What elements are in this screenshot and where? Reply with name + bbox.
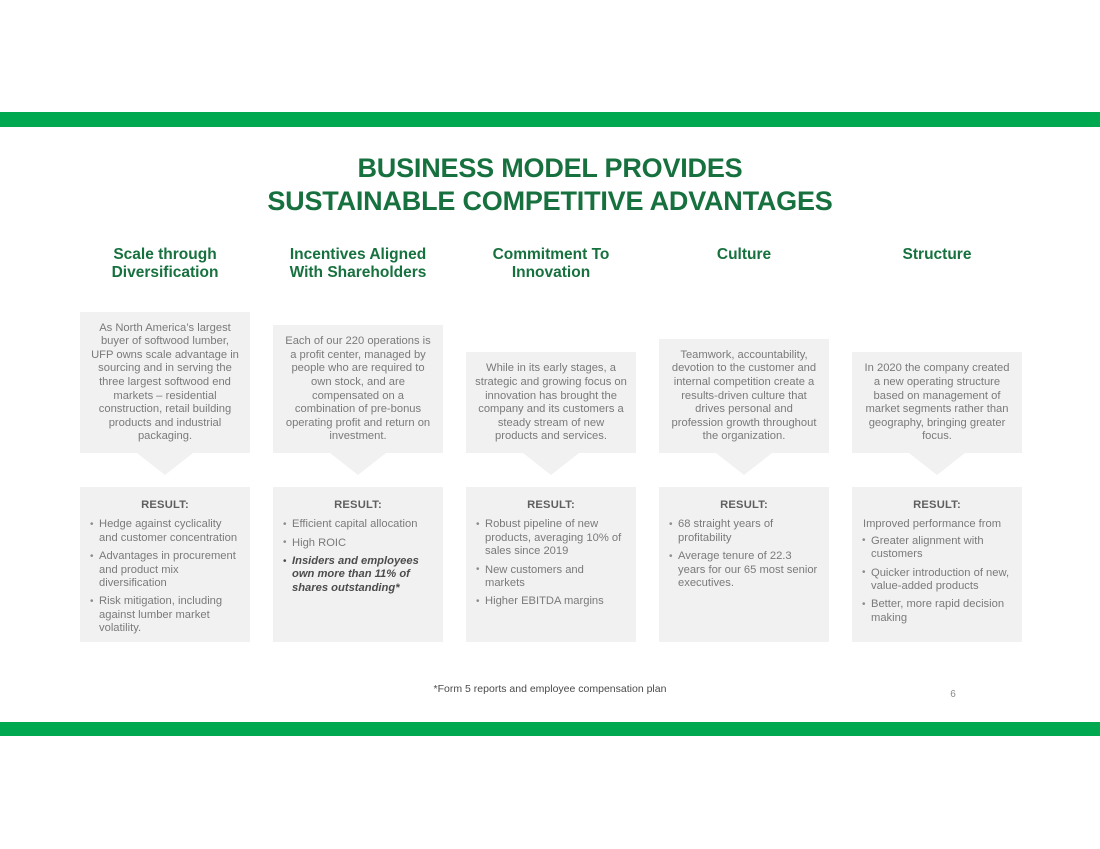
list-item: Quicker introduction of new, value-added…	[862, 567, 1012, 594]
description-box: In 2020 the company created a new operat…	[852, 352, 1022, 453]
columns-container: Scale through Diversification As North A…	[80, 246, 1020, 646]
slide-title: BUSINESS MODEL PROVIDES SUSTAINABLE COMP…	[0, 152, 1100, 218]
column-heading: Incentives Aligned With Shareholders	[267, 246, 449, 282]
description-text: Each of our 220 operations is a profit c…	[285, 335, 431, 442]
result-bullet-list: Greater alignment with customers Quicker…	[862, 535, 1012, 625]
result-label: RESULT:	[90, 499, 240, 512]
slide-title-line-2: SUSTAINABLE COMPETITIVE ADVANTAGES	[0, 185, 1100, 218]
column-structure: Structure In 2020 the company created a …	[852, 246, 1022, 646]
column-heading-line-1: Scale through	[113, 246, 216, 263]
result-box: RESULT: Efficient capital allocation Hig…	[273, 487, 443, 642]
description-box: While in its early stages, a strategic a…	[466, 352, 636, 453]
column-incentives-aligned-with-shareholders: Incentives Aligned With Shareholders Eac…	[273, 246, 443, 646]
column-heading: Culture	[653, 246, 835, 264]
list-item-emphasized: Insiders and employees own more than 11%…	[283, 555, 433, 595]
column-heading-line-2: Innovation	[512, 264, 590, 281]
result-label: RESULT:	[476, 499, 626, 512]
result-label: RESULT:	[283, 499, 433, 512]
result-bullet-list: 68 straight years of profitability Avera…	[669, 518, 819, 590]
list-item: Robust pipeline of new products, averagi…	[476, 518, 626, 558]
slide: BUSINESS MODEL PROVIDES SUSTAINABLE COMP…	[0, 0, 1100, 849]
list-item: Greater alignment with customers	[862, 535, 1012, 562]
result-bullet-list: Hedge against cyclicality and customer c…	[90, 518, 240, 635]
result-bullet-list: Robust pipeline of new products, averagi…	[476, 518, 626, 608]
column-heading: Commitment To Innovation	[460, 246, 642, 282]
column-heading: Structure	[846, 246, 1028, 264]
bottom-accent-bar	[0, 722, 1100, 736]
result-box: RESULT: Robust pipeline of new products,…	[466, 487, 636, 642]
list-item: Hedge against cyclicality and customer c…	[90, 518, 240, 545]
result-label: RESULT:	[669, 499, 819, 512]
list-item: High ROIC	[283, 537, 433, 550]
column-heading-line-2: Diversification	[112, 264, 219, 281]
column-culture: Culture Teamwork, accountability, devoti…	[659, 246, 829, 646]
column-heading-line-1: Incentives Aligned	[290, 246, 426, 263]
list-item: Efficient capital allocation	[283, 518, 433, 531]
description-box: Teamwork, accountability, devotion to th…	[659, 339, 829, 453]
list-item: Average tenure of 22.3 years for our 65 …	[669, 550, 819, 590]
top-accent-bar	[0, 112, 1100, 127]
arrow-down-icon	[716, 453, 772, 475]
description-box: Each of our 220 operations is a profit c…	[273, 325, 443, 453]
arrow-down-icon	[523, 453, 579, 475]
column-heading-line-1: Commitment To	[493, 246, 610, 263]
result-lead-in: Improved performance from	[862, 518, 1012, 531]
description-text: In 2020 the company created a new operat…	[865, 362, 1010, 442]
list-item: Risk mitigation, including against lumbe…	[90, 595, 240, 635]
list-item: Advantages in procurement and product mi…	[90, 550, 240, 590]
result-bullet-list: Efficient capital allocation High ROIC I…	[283, 518, 433, 594]
description-text: Teamwork, accountability, devotion to th…	[672, 349, 817, 443]
page-number: 6	[930, 689, 976, 700]
arrow-down-icon	[909, 453, 965, 475]
result-label: RESULT:	[862, 499, 1012, 512]
list-item: Higher EBITDA margins	[476, 595, 626, 608]
description-box: As North America’s largest buyer of soft…	[80, 312, 250, 453]
list-item: New customers and markets	[476, 564, 626, 591]
result-box: RESULT: 68 straight years of profitabili…	[659, 487, 829, 642]
list-item: Better, more rapid decision making	[862, 598, 1012, 625]
arrow-down-icon	[137, 453, 193, 475]
description-text: As North America’s largest buyer of soft…	[91, 322, 239, 443]
column-heading-line-1: Structure	[903, 246, 972, 263]
slide-title-line-1: BUSINESS MODEL PROVIDES	[0, 152, 1100, 185]
column-scale-through-diversification: Scale through Diversification As North A…	[80, 246, 250, 646]
arrow-down-icon	[330, 453, 386, 475]
list-item: 68 straight years of profitability	[669, 518, 819, 545]
result-box: RESULT: Improved performance from Greate…	[852, 487, 1022, 642]
column-heading: Scale through Diversification	[74, 246, 256, 282]
column-heading-line-2: With Shareholders	[290, 264, 427, 281]
description-text: While in its early stages, a strategic a…	[475, 362, 627, 442]
result-box: RESULT: Hedge against cyclicality and cu…	[80, 487, 250, 642]
column-heading-line-1: Culture	[717, 246, 771, 263]
column-commitment-to-innovation: Commitment To Innovation While in its ea…	[466, 246, 636, 646]
